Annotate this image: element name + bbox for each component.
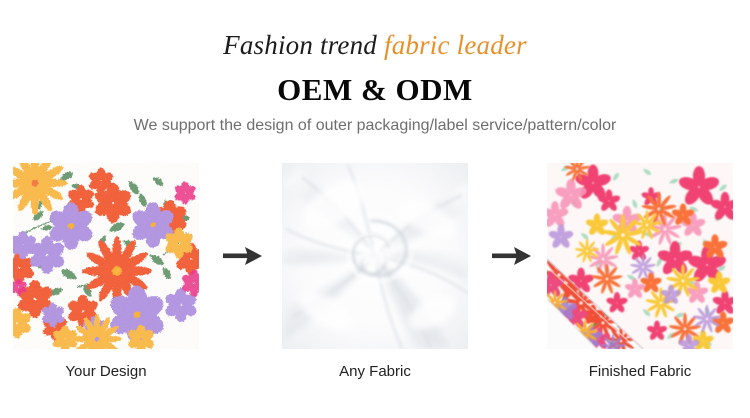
caption-finished-fabric: Finished Fabric	[547, 362, 733, 382]
tagline-primary: Fashion trend	[223, 30, 377, 60]
printed-floral-fabric-icon	[547, 163, 733, 349]
step-image-finished-fabric	[547, 163, 733, 349]
step-image-your-design	[13, 163, 199, 349]
promo-banner: Fashion trendfabric leader OEM & ODM We …	[0, 0, 750, 418]
arrow-right-icon	[490, 241, 534, 271]
white-swirled-fabric-icon	[282, 163, 468, 349]
arrow-right-1	[221, 241, 265, 271]
caption-any-fabric: Any Fabric	[282, 362, 468, 382]
tagline-accent: fabric leader	[384, 30, 527, 60]
page-subtitle: We support the design of outer packaging…	[0, 115, 750, 137]
tagline: Fashion trendfabric leader	[0, 30, 750, 60]
step-image-any-fabric	[282, 163, 468, 349]
hand-drawn-floral-sketch-icon	[13, 163, 199, 349]
caption-your-design: Your Design	[13, 362, 199, 382]
arrow-right-icon	[221, 241, 265, 271]
page-title: OEM & ODM	[0, 72, 750, 108]
arrow-right-2	[490, 241, 534, 271]
process-steps	[0, 163, 750, 353]
